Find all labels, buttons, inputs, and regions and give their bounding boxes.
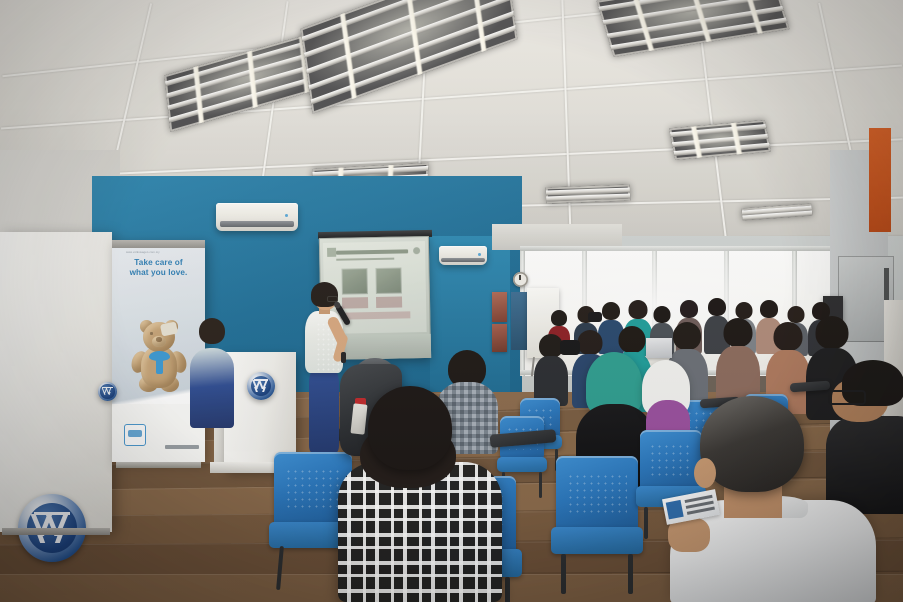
banner-base-foot	[116, 462, 201, 468]
slide-logo-left-icon	[327, 248, 336, 257]
child-safety-program-logo-icon	[124, 424, 146, 446]
audience-member-white-shirt	[676, 396, 886, 602]
slide-subtitle-bar	[336, 258, 394, 261]
slide-title-bar	[336, 249, 408, 254]
ear	[694, 458, 716, 488]
ceiling-light-fixture	[669, 120, 771, 160]
orange-column-band	[869, 128, 891, 232]
wall-poster	[492, 324, 507, 352]
camera-icon	[560, 340, 580, 355]
teddy-bear-graphic	[129, 318, 189, 400]
vw-rollup-banner-plain	[0, 232, 112, 532]
banner-url: www.volkswagen.com.my	[126, 251, 160, 254]
chair[interactable]	[556, 456, 638, 578]
banner-headline-line1: Take care of	[112, 258, 205, 268]
presenter-trousers	[309, 370, 339, 452]
slide-logo-right-icon	[413, 247, 420, 254]
audience-member-standing	[190, 318, 234, 428]
seminar-room-photograph: www.volkswagen.com.my Take care of what …	[0, 0, 903, 602]
air-conditioner-unit	[439, 246, 487, 265]
banner-headline: Take care of what you love.	[112, 258, 205, 278]
wall-poster	[492, 292, 507, 322]
ceiling-light-fixture	[301, 0, 518, 114]
wall-notice-board	[511, 292, 527, 350]
ceiling-light-fixture	[546, 185, 631, 204]
camera-icon	[588, 312, 602, 322]
slide-caption-right	[376, 296, 402, 307]
hair	[368, 386, 452, 470]
ceiling-light-fixture	[742, 204, 813, 221]
ceiling-light-fixture	[597, 0, 790, 57]
audience-member-plaid-top	[336, 386, 506, 602]
banner-headline-line2: what you love.	[112, 268, 205, 278]
vw-roundel-icon	[98, 382, 117, 401]
banner-top-rail	[112, 240, 205, 248]
hair	[700, 396, 804, 492]
vw-roundel-icon	[247, 372, 275, 400]
air-conditioner-unit	[216, 203, 298, 231]
laptop	[646, 338, 672, 358]
presentation-clicker	[341, 352, 346, 363]
vw-wordmark	[165, 445, 199, 449]
slide-photo-right	[375, 267, 401, 293]
banner-base-foot	[2, 528, 110, 535]
wall-clock	[513, 272, 528, 287]
